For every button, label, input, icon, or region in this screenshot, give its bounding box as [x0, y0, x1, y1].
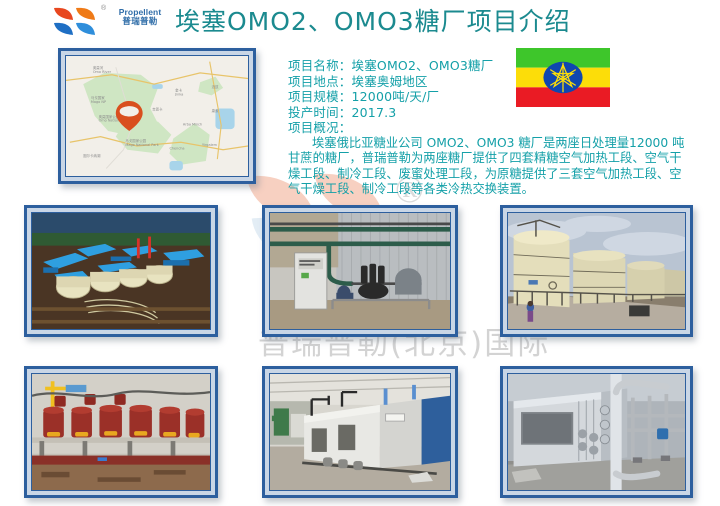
project-location-line: 项目地点：埃塞奥姆地区 [288, 74, 698, 90]
storage-tanks-graphic [508, 213, 685, 329]
pump-station-graphic [270, 213, 450, 329]
photo-thumbnail-stainless-steel-heat-exchanger-unit[interactable] [500, 366, 693, 498]
photo-thumbnail-molasses-storage-tanks[interactable] [500, 205, 693, 337]
photo-2-image [269, 212, 451, 330]
brand-registered-icon: ® [101, 5, 106, 12]
project-info-block: 项目名称：埃塞OMO2、OMO3糖厂 项目地点：埃塞奥姆地区 项目规模：1200… [288, 58, 698, 198]
photo-4-image [31, 373, 211, 491]
propellent-leaf-logo-icon [52, 6, 106, 38]
photo-thumbnail-air-handling-unit[interactable] [262, 366, 458, 498]
photo-5-image [269, 373, 451, 491]
page-title: 埃塞OMO2、OMO3糖厂项目介绍 [175, 2, 571, 38]
red-vessels-graphic [32, 374, 210, 490]
photo-thumbnail-red-process-vessels-under-construction[interactable] [24, 366, 218, 498]
photo-6-image [507, 373, 686, 491]
photo-thumbnail-pump-station-and-control-panel[interactable] [262, 205, 458, 337]
air-handling-unit-graphic [270, 374, 450, 490]
brand-name-cn: 普瑞普勒 [110, 18, 170, 28]
page-header: ® Propellent 普瑞普勒 埃塞OMO2、OMO3糖厂项目介绍 [0, 0, 720, 44]
sugar-factory-aerial-view-graphic [32, 213, 210, 329]
photo-1-image [31, 212, 211, 330]
photo-3-image [507, 212, 686, 330]
project-scale-line: 项目规模：12000吨/天/厂 [288, 89, 698, 105]
project-overview-text: 埃塞俄比亚糖业公司 OMO2、OMO3 糖厂是两座日处理量12000 吨甘蔗的糖… [288, 136, 692, 198]
project-startup-line: 投产时间：2017.3 [288, 105, 698, 121]
brand-wordmark: Propellent 普瑞普勒 [110, 8, 170, 28]
project-name-line: 项目名称：埃塞OMO2、OMO3糖厂 [288, 58, 698, 74]
heat-exchanger-graphic [508, 374, 685, 490]
project-overview-label: 项目概况： [288, 120, 698, 136]
photo-thumbnail-sugar-factory-aerial-view[interactable] [24, 205, 218, 337]
